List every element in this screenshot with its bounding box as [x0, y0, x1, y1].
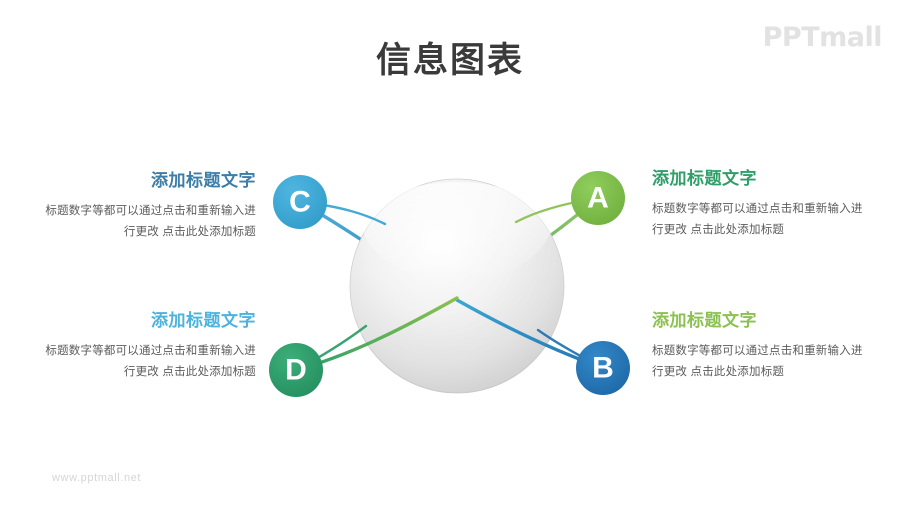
- node-d-letter: D: [285, 354, 307, 387]
- text-block-bottom-left[interactable]: 添加标题文字 标题数字等都可以通过点击和重新输入进行更改 点击此处添加标题: [34, 310, 256, 384]
- text-block-bottom-left-body: 标题数字等都可以通过点击和重新输入进行更改 点击此处添加标题: [34, 341, 256, 384]
- text-block-top-left-heading: 添加标题文字: [34, 170, 256, 192]
- text-block-bottom-right-heading: 添加标题文字: [652, 310, 874, 332]
- text-block-top-left-body: 标题数字等都可以通过点击和重新输入进行更改 点击此处添加标题: [34, 201, 256, 244]
- node-c-letter: C: [289, 186, 311, 219]
- text-block-top-right[interactable]: 添加标题文字 标题数字等都可以通过点击和重新输入进行更改 点击此处添加标题: [652, 168, 874, 242]
- text-block-top-right-heading: 添加标题文字: [652, 168, 874, 190]
- text-block-bottom-left-heading: 添加标题文字: [34, 310, 256, 332]
- infographic-diagram: C A D B: [0, 0, 900, 506]
- slide-canvas: 信息图表 PPTmall: [0, 0, 900, 506]
- node-b[interactable]: B: [576, 341, 630, 395]
- text-block-top-right-body: 标题数字等都可以通过点击和重新输入进行更改 点击此处添加标题: [652, 199, 874, 242]
- footer-url: www.pptmall.net: [52, 472, 141, 484]
- node-a[interactable]: A: [571, 171, 625, 225]
- text-block-bottom-right-body: 标题数字等都可以通过点击和重新输入进行更改 点击此处添加标题: [652, 341, 874, 384]
- node-d[interactable]: D: [269, 343, 323, 397]
- text-block-top-left[interactable]: 添加标题文字 标题数字等都可以通过点击和重新输入进行更改 点击此处添加标题: [34, 170, 256, 244]
- node-a-letter: A: [587, 182, 609, 215]
- center-sphere: [350, 142, 564, 393]
- node-c[interactable]: C: [273, 175, 327, 229]
- sphere-gloss: [359, 142, 555, 282]
- node-b-letter: B: [592, 352, 614, 385]
- text-block-bottom-right[interactable]: 添加标题文字 标题数字等都可以通过点击和重新输入进行更改 点击此处添加标题: [652, 310, 874, 384]
